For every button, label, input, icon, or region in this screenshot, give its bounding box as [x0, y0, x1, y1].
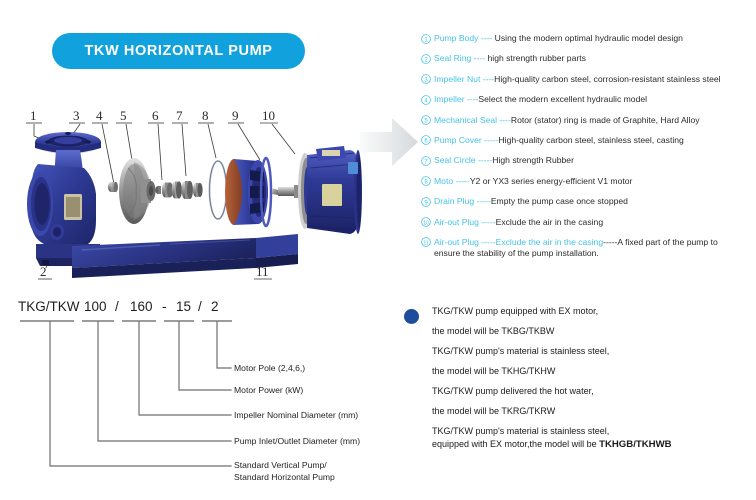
legend-dash: -----	[453, 176, 470, 186]
legend-dash: -----	[476, 155, 493, 165]
note-line: the model will be TKRG/TKRW	[432, 406, 752, 417]
model-variant-notes: TKG/TKW pump equipped with EX motor, the…	[404, 306, 752, 459]
legend-dash: ----	[471, 53, 487, 63]
legend-dash: ----	[478, 33, 494, 43]
flow-arrow	[358, 112, 420, 172]
legend-part-name: Drain Plug	[434, 196, 474, 206]
svg-text:6: 6	[152, 108, 159, 123]
legend-item: 3 Impeller Nut ----High-quality carbon s…	[420, 74, 756, 85]
circled-number-icon: 6	[420, 135, 432, 145]
legend-part-name: Impeller Nut	[434, 74, 480, 84]
code-separator-2: -	[162, 299, 167, 314]
note-line: TKG/TKW pump's material is stainless ste…	[432, 346, 752, 357]
legend-dash: ----	[480, 74, 494, 84]
legend-dash: -----	[474, 196, 491, 206]
legend-part-name: Moto	[434, 176, 453, 186]
code-separator-1: /	[115, 299, 119, 314]
callout-7: 7	[172, 108, 188, 123]
svg-text:11: 11	[423, 241, 428, 247]
legend-item: 8 Moto -----Y2 or YX3 series energy-effi…	[420, 176, 756, 187]
legend-item: 1 Pump Body ---- Using the modern optima…	[420, 33, 756, 44]
svg-text:5: 5	[120, 108, 127, 123]
legend-item: 5 Mechanical Seal ----Rotor (stator) rin…	[420, 115, 756, 126]
legend-dash: ----	[497, 115, 511, 125]
circled-number-icon: 7	[420, 156, 432, 166]
seal-circle-part	[210, 161, 227, 219]
breakdown-label-impeller-diameter: Impeller Nominal Diameter (mm)	[234, 410, 358, 420]
callout-10: 10	[260, 108, 278, 123]
bracket-leader-lines	[50, 321, 231, 466]
legend-description: High-quality carbon steel, stainless ste…	[498, 135, 683, 145]
legend-description: high strength rubber parts	[488, 53, 586, 63]
circled-number-icon: 2	[420, 54, 432, 64]
breakdown-label-motor-power: Motor Power (kW)	[234, 385, 303, 395]
note-line: TKG/TKW pump equipped with EX motor,	[432, 306, 752, 317]
legend-part-name: Pump Body	[434, 33, 478, 43]
svg-text:4: 4	[96, 108, 103, 123]
svg-text:1: 1	[30, 108, 37, 123]
legend-description-extra: -----A fixed part of the pump to	[603, 237, 718, 247]
legend-description: Using the modern optimal hydraulic model…	[495, 33, 683, 43]
circled-number-icon: 5	[420, 115, 432, 125]
legend-part-name: Pump Cover	[434, 135, 482, 145]
circled-number-icon: 11	[420, 237, 432, 247]
svg-text:2: 2	[40, 264, 47, 279]
code-segment-pole: 2	[211, 299, 219, 314]
legend-part-name: Air-out Plug	[434, 237, 479, 247]
legend-item: 7 Seal Circle -----High strength Rubber	[420, 155, 756, 166]
legend-item: 4 Impeller ----Select the modern excelle…	[420, 94, 756, 105]
circled-number-icon: 1	[420, 34, 432, 44]
callout-1: 1	[26, 108, 42, 123]
exploded-pump-diagram: 1 3 4 5 6 7 8	[10, 98, 370, 288]
circled-number-icon: 10	[420, 217, 432, 227]
circled-number-icon: 3	[420, 74, 432, 84]
callout-5: 5	[116, 108, 132, 123]
legend-part-name: Air-out Plug	[434, 217, 479, 227]
code-separator-3: /	[198, 299, 202, 314]
motor-part	[272, 146, 362, 234]
legend-item: 2 Seal Ring ---- high strength rubber pa…	[420, 53, 756, 64]
legend-description: High strength Rubber	[492, 155, 574, 165]
note-text: equipped with EX motor,the model will be	[432, 439, 599, 449]
svg-text:11: 11	[256, 264, 269, 279]
note-line: the model will be TKHG/TKHW	[432, 366, 752, 377]
breakdown-label-inlet-diameter: Pump Inlet/Outlet Diameter (mm)	[234, 436, 360, 446]
svg-text:10: 10	[423, 220, 429, 226]
svg-text:8: 8	[202, 108, 209, 123]
breakdown-label-motor-pole: Motor Pole (2,4,6,)	[234, 363, 305, 373]
legend-part-name: Mechanical Seal	[434, 115, 497, 125]
code-segment-prefix: TKG/TKW	[18, 299, 80, 314]
callout-6: 6	[148, 108, 164, 123]
mechanical-seal-part	[155, 181, 202, 199]
circled-number-icon: 4	[420, 95, 432, 105]
note-line: the model will be TKBG/TKBW	[432, 326, 752, 337]
callout-3: 3	[69, 108, 85, 123]
callout-8: 8	[198, 108, 214, 123]
notes-body: TKG/TKW pump equipped with EX motor, the…	[432, 306, 752, 450]
legend-description: Exclude the air in the casing	[496, 217, 604, 227]
legend-part-name: Impeller	[434, 94, 465, 104]
svg-text:3: 3	[73, 108, 80, 123]
legend-part-name: Seal Ring	[434, 53, 471, 63]
page-root: TKW HORIZONTAL PUMP	[0, 0, 756, 500]
note-model-code: TKHGB/TKHWB	[599, 439, 671, 450]
legend-dash: -----	[482, 135, 499, 145]
code-segment-power: 15	[176, 299, 191, 314]
legend-item: 9 Drain Plug -----Empty the pump case on…	[420, 196, 756, 207]
legend-dash: -----	[479, 217, 496, 227]
note-line-final: equipped with EX motor,the model will be…	[432, 439, 752, 450]
legend-description: Y2 or YX3 series energy-efficient V1 mot…	[470, 176, 633, 186]
legend-description: Select the modern excellent hydraulic mo…	[478, 94, 647, 104]
page-title: TKW HORIZONTAL PUMP	[84, 43, 272, 59]
legend-item: 6 Pump Cover -----High-quality carbon st…	[420, 135, 756, 146]
callout-2: 2	[38, 264, 52, 279]
code-segment-inlet: 100	[84, 299, 107, 314]
legend-description: Rotor (stator) ring is made of Graphite,…	[511, 115, 700, 125]
legend-description: Empty the pump case once stopped	[491, 196, 628, 206]
bullet-dot-icon	[404, 309, 419, 324]
legend-item: 11 Air-out Plug -----Exclude the air in …	[420, 237, 756, 259]
legend-dash: -----	[479, 237, 496, 247]
title-banner: TKW HORIZONTAL PUMP	[52, 33, 305, 69]
callout-9: 9	[228, 108, 244, 123]
legend-part-name: Seal Circle	[434, 155, 476, 165]
legend-item: 10 Air-out Plug -----Exclude the air in …	[420, 217, 756, 228]
legend-description-cont: ensure the stability of the pump install…	[434, 248, 599, 258]
model-code-breakdown: TKG/TKW 100 / 160 - 15 / 2	[18, 296, 408, 494]
breakdown-label-pump-type-2: Standard Horizontal Pump	[234, 472, 335, 482]
legend-description: Exclude the air in the casing	[496, 237, 604, 247]
circled-number-icon: 8	[420, 176, 432, 186]
svg-text:10: 10	[262, 108, 275, 123]
legend-list: 1 Pump Body ---- Using the modern optima…	[420, 33, 756, 268]
breakdown-label-pump-type-1: Standard Vertical Pump/	[234, 460, 327, 470]
note-line: TKG/TKW pump's material is stainless ste…	[432, 426, 752, 437]
callout-4: 4	[92, 108, 108, 123]
pump-cover-part	[225, 158, 271, 226]
code-segment-impeller: 160	[130, 299, 153, 314]
circled-number-icon: 9	[420, 197, 432, 207]
impeller-part	[119, 158, 156, 224]
impeller-nut-part	[108, 182, 118, 192]
svg-text:7: 7	[176, 108, 183, 123]
svg-text:9: 9	[232, 108, 239, 123]
note-line: TKG/TKW pump delivered the hot water,	[432, 386, 752, 397]
legend-dash: ----	[465, 94, 479, 104]
legend-description: High-quality carbon steel, corrosion-res…	[494, 74, 720, 84]
